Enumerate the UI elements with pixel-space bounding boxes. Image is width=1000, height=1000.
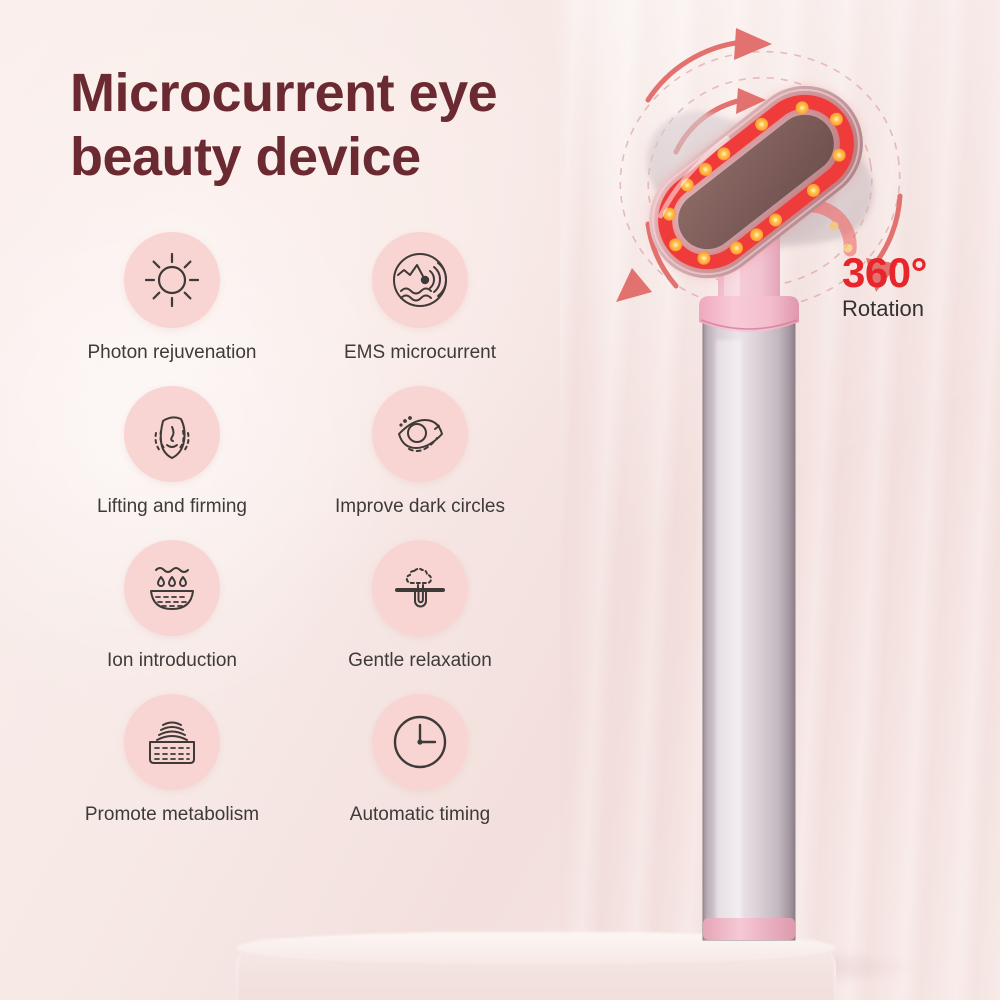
feature-label: Ion introduction <box>107 650 237 672</box>
feature-item[interactable]: Improve dark circles <box>310 386 530 518</box>
feature-icon-badge <box>124 232 220 328</box>
face-lifting-icon <box>141 403 203 465</box>
feature-item[interactable]: Lifting and firming <box>62 386 282 518</box>
feature-label: Promote metabolism <box>85 804 259 826</box>
product-marketing-image: Microcurrent eye beauty device <box>0 0 1000 1000</box>
feature-icon-badge <box>124 694 220 790</box>
feature-label: Lifting and firming <box>97 496 247 518</box>
feature-label: Improve dark circles <box>335 496 505 518</box>
rotation-degrees: 360° <box>842 252 927 294</box>
feature-list: Photon rejuvenation EMS microcurrent <box>62 232 582 826</box>
feature-item[interactable]: Gentle relaxation <box>310 540 530 672</box>
feature-label: Automatic timing <box>350 804 490 826</box>
feature-label: EMS microcurrent <box>344 342 496 364</box>
feature-icon-badge <box>124 386 220 482</box>
feature-icon-badge <box>124 540 220 636</box>
ems-wave-icon <box>389 249 451 311</box>
feature-label: Photon rejuvenation <box>87 342 256 364</box>
rotation-callout: 360° Rotation <box>842 252 927 320</box>
feature-icon-badge <box>372 540 468 636</box>
feature-item[interactable]: EMS microcurrent <box>310 232 530 364</box>
skin-waves-icon <box>141 711 203 773</box>
sun-icon <box>141 249 203 311</box>
feature-icon-badge <box>372 386 468 482</box>
pore-steam-icon <box>389 557 451 619</box>
device-collar <box>699 296 799 332</box>
feature-item[interactable]: Ion introduction <box>62 540 282 672</box>
feature-item[interactable]: Automatic timing <box>310 694 530 826</box>
feature-icon-badge <box>372 232 468 328</box>
feature-item[interactable]: Photon rejuvenation <box>62 232 282 364</box>
eye-icon <box>389 403 451 465</box>
feature-icon-badge <box>372 694 468 790</box>
rotation-word: Rotation <box>842 298 927 320</box>
feature-label: Gentle relaxation <box>348 650 492 672</box>
device-handle <box>703 322 795 940</box>
feature-item[interactable]: Promote metabolism <box>62 694 282 826</box>
ion-droplet-icon <box>141 557 203 619</box>
clock-icon <box>389 711 451 773</box>
